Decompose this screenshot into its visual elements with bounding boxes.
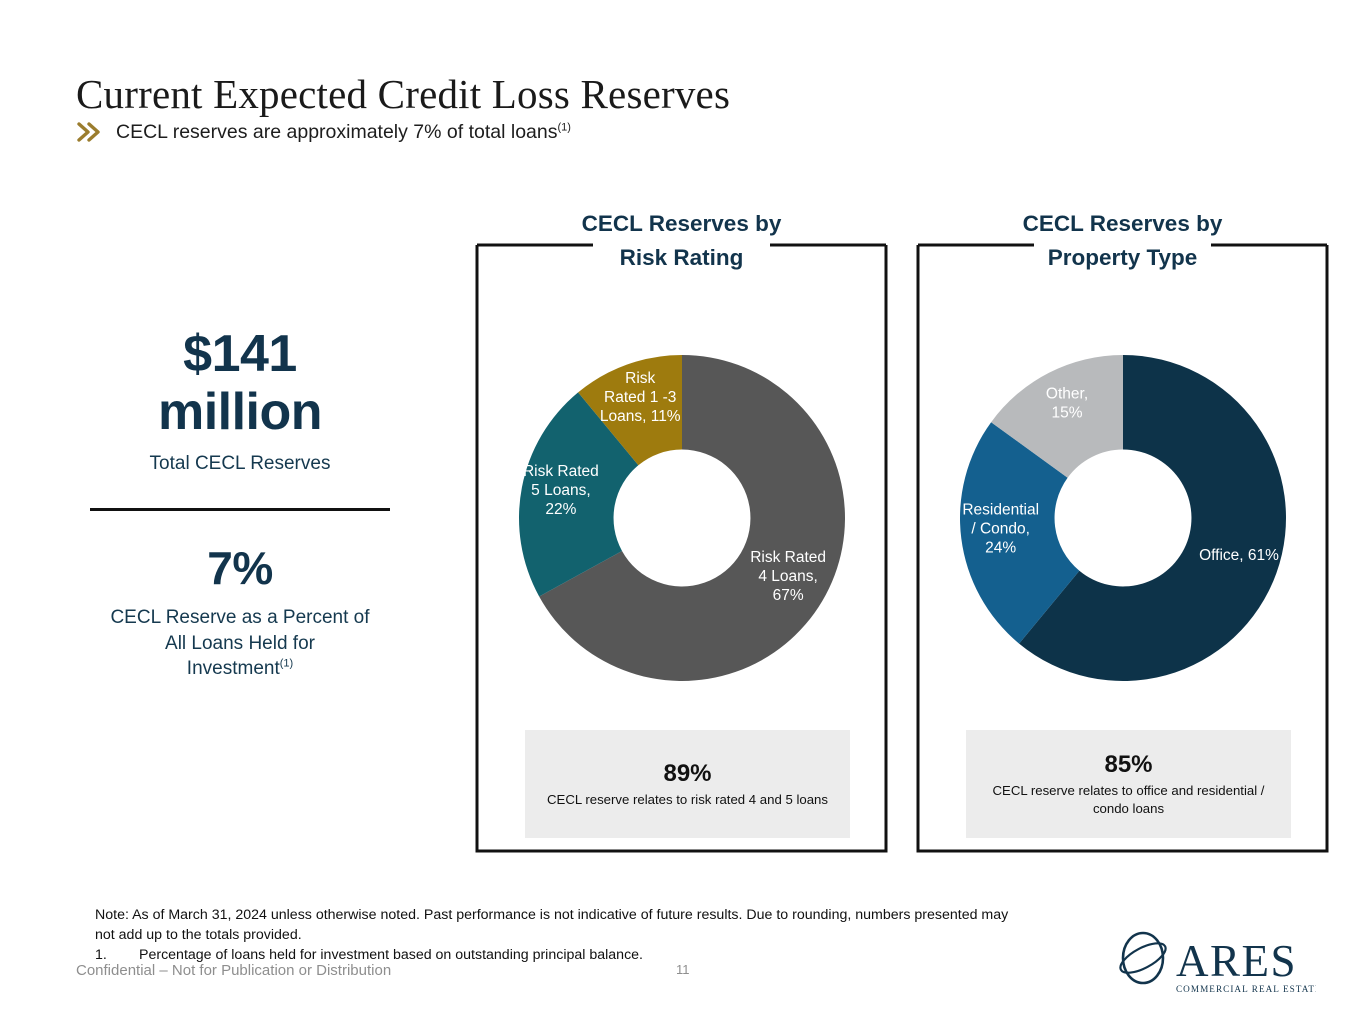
reserve-percent-value: 7% — [60, 541, 420, 595]
chart-card-property-type: CECL Reserves by Property Type Office, 6… — [916, 243, 1329, 853]
stats-divider — [90, 508, 390, 511]
page-title: Current Expected Credit Loss Reserves — [76, 70, 730, 118]
confidential-notice: Confidential – Not for Publication or Di… — [76, 962, 391, 979]
summary-stats-panel: $141 million Total CECL Reserves 7% CECL… — [60, 325, 420, 681]
chart-title: CECL Reserves by Property Type — [916, 207, 1329, 275]
reserve-percent-footnote-marker: (1) — [280, 658, 293, 670]
page-number: 11 — [676, 962, 690, 977]
footnotes: Note: As of March 31, 2024 unless otherw… — [95, 905, 1125, 965]
double-chevron-icon — [76, 120, 102, 144]
note-line-1: Note: As of March 31, 2024 unless otherw… — [95, 905, 1125, 925]
bullet-footnote-marker: (1) — [557, 121, 570, 133]
chart-callout: 85% CECL reserve relates to office and r… — [966, 730, 1291, 838]
ares-wordmark: ARES — [1176, 936, 1297, 986]
ares-tagline: COMMERCIAL REAL ESTATE CORPORATION — [1176, 984, 1316, 994]
donut-chart-property-type: Office, 61%Residential/ Condo,24%Other,1… — [916, 353, 1329, 683]
chart-callout: 89% CECL reserve relates to risk rated 4… — [525, 730, 850, 838]
reserve-percent-label: CECL Reserve as a Percent of All Loans H… — [60, 605, 420, 681]
total-reserves-value: $141 million — [60, 325, 420, 441]
donut-chart-risk-rating: Risk Rated4 Loans,67%Risk Rated5 Loans,2… — [475, 353, 888, 683]
note-line-2: not add up to the totals provided. — [95, 925, 1125, 945]
callout-percent: 85% — [1104, 751, 1152, 779]
bullet-text: CECL reserves are approximately 7% of to… — [116, 121, 571, 144]
bullet-row: CECL reserves are approximately 7% of to… — [76, 120, 571, 144]
chart-card-risk-rating: CECL Reserves by Risk Rating Risk Rated4… — [475, 243, 888, 853]
ares-orbit-icon — [1116, 933, 1170, 983]
callout-text: CECL reserve relates to office and resid… — [978, 782, 1279, 817]
ares-logo: ARES COMMERCIAL REAL ESTATE CORPORATION — [1116, 928, 1316, 1000]
callout-percent: 89% — [663, 760, 711, 788]
callout-text: CECL reserve relates to risk rated 4 and… — [547, 791, 828, 808]
chart-title: CECL Reserves by Risk Rating — [475, 207, 888, 275]
slide: Current Expected Credit Loss Reserves CE… — [0, 0, 1365, 1024]
total-reserves-label: Total CECL Reserves — [60, 453, 420, 475]
pie-slice-label: Office, 61% — [1199, 547, 1279, 564]
